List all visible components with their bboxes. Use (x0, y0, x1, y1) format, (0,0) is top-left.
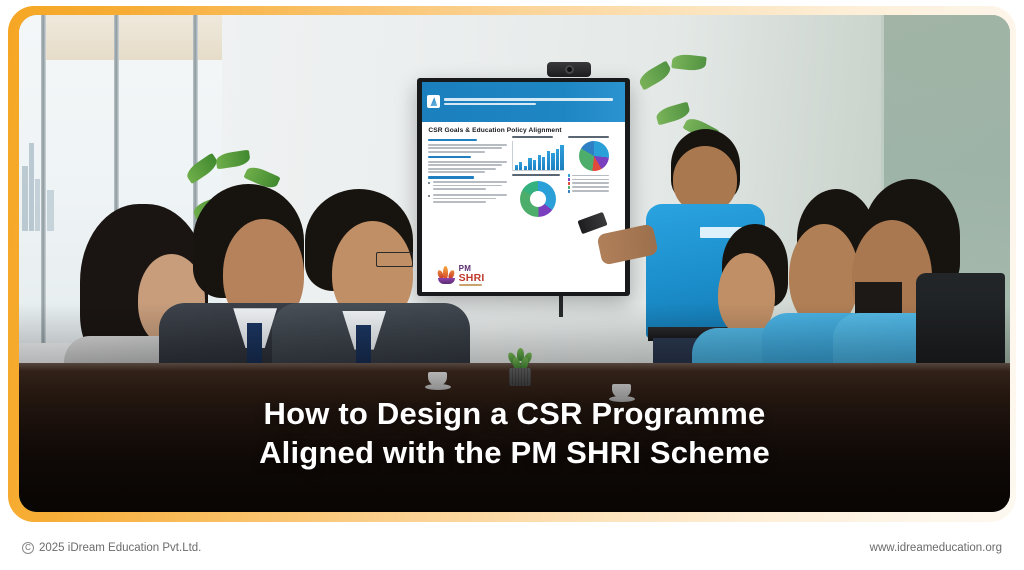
copyright-text: 2025 iDream Education Pvt.Ltd. (39, 542, 201, 554)
bar (547, 151, 550, 170)
presentation-slide: CSR Goals & Education Policy Alignment (422, 82, 625, 293)
slide-subheading (428, 176, 473, 179)
slide-subheading (428, 139, 477, 142)
slide-subheading (428, 156, 470, 159)
pie-chart-legend (568, 174, 620, 193)
image-frame-border: CSR Goals & Education Policy Alignment (8, 6, 1016, 522)
page-title-line-1: How to Design a CSR Programme (19, 394, 1010, 433)
eyeglasses-icon (376, 252, 413, 267)
bar-chart (512, 136, 564, 283)
slide-header-bar (422, 82, 625, 122)
video-conference-camera-icon (547, 62, 591, 77)
organisation-logo-icon (427, 95, 440, 108)
bar (533, 160, 536, 170)
copyright-notice: C 2025 iDream Education Pvt.Ltd. (22, 542, 201, 554)
bar-chart-caption (512, 136, 554, 138)
bar (524, 166, 527, 170)
pm-shri-line2: SHRI (459, 273, 485, 284)
page-title-line-2: Aligned with the PM SHRI Scheme (19, 433, 1010, 472)
poster-canvas: CSR Goals & Education Policy Alignment (0, 0, 1024, 570)
bar (519, 162, 522, 170)
copyright-icon: C (22, 542, 34, 554)
bar (560, 145, 563, 171)
pie-chart-caption (568, 136, 609, 138)
bar (551, 153, 554, 170)
bar-chart-plot (512, 141, 564, 171)
bar (542, 157, 545, 170)
page-title: How to Design a CSR Programme Aligned wi… (19, 394, 1010, 472)
bar (556, 149, 559, 170)
conference-room-scene: CSR Goals & Education Policy Alignment (19, 15, 1010, 512)
slide-body (422, 136, 625, 283)
bar (515, 165, 518, 170)
donut-chart (520, 181, 556, 217)
website-url[interactable]: www.idreameducation.org (870, 542, 1002, 554)
bar (538, 155, 541, 170)
photo-container: CSR Goals & Education Policy Alignment (19, 15, 1010, 512)
page-footer: C 2025 iDream Education Pvt.Ltd. www.idr… (0, 526, 1024, 570)
slide-header-text (444, 98, 620, 105)
bar (528, 158, 531, 170)
pie-chart-plot (579, 141, 609, 171)
window-mullion (41, 15, 46, 343)
slide-title: CSR Goals & Education Policy Alignment (422, 122, 625, 136)
